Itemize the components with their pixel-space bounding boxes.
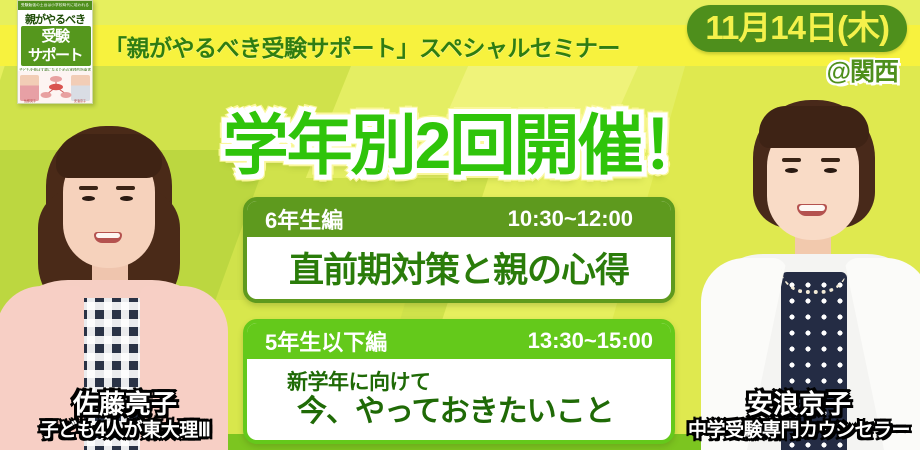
session-1-title: 直前期対策と親の心得 [289, 242, 629, 293]
book-author-name-right: 安浪京子 [70, 99, 90, 103]
seminar-banner: 「親がやるべき受験サポート」スペシャルセミナー 受験勉強の土台は小学校時代に培わ… [0, 0, 920, 450]
session-1-time: 10:30~12:00 [508, 206, 659, 232]
session-1-grade: 6年生編 [265, 203, 343, 235]
book-obi-text: 受験勉強の土台は小学校時代に培われる [18, 1, 92, 10]
date-badge: 11月14日(木) [687, 5, 907, 52]
session-card-2-header: 5年生以下編 13:30~15:00 [247, 323, 671, 359]
date-text: 11月14日(木) [705, 8, 889, 47]
presenter-left-name: 佐藤亮子 [14, 389, 236, 419]
presenter-left-role: 子ども4人が東大理Ⅲ [14, 419, 236, 442]
session-card-2: 5年生以下編 13:30~15:00 新学年に向けて 今、やっておきたいこと [243, 319, 675, 444]
presenter-right-role: 中学受験専門カウンセラー [684, 419, 914, 442]
session-2-title: 今、やっておきたいこと [297, 395, 614, 429]
session-2-subtitle: 新学年に向けて [287, 371, 431, 395]
presenter-right-name: 安浪京子 [684, 389, 914, 419]
book-author-photos: 佐藤亮子 安浪京子 [18, 71, 92, 103]
region-label: @関西 [827, 52, 898, 88]
mouth-shape [797, 204, 827, 216]
eye-right [120, 196, 133, 201]
session-card-1: 6年生編 10:30~12:00 直前期対策と親の心得 [243, 197, 675, 303]
presenter-caption-left: 佐藤亮子 子ども4人が東大理Ⅲ [14, 389, 236, 442]
book-author-photo-right [71, 75, 90, 101]
book-author-name-left: 佐藤亮子 [20, 99, 40, 103]
mouth-shape [94, 232, 122, 243]
eye-left [82, 196, 95, 201]
main-headline: 学年別2回開催！ [0, 92, 920, 188]
seminar-title: 「親がやるべき受験サポート」スペシャルセミナー [104, 27, 664, 65]
session-card-1-header: 6年生編 10:30~12:00 [247, 201, 671, 237]
book-title-line2: 受験サポート [18, 27, 92, 65]
presenter-caption-right: 安浪京子 中学受験専門カウンセラー [684, 389, 914, 442]
book-author-photo-left [20, 75, 39, 101]
book-cover-thumbnail: 受験勉強の土台は小学校時代に培われる 親がやるべき 受験サポート 子どもを伸ばす… [17, 0, 93, 104]
session-card-2-body: 新学年に向けて 今、やっておきたいこと [247, 359, 671, 440]
session-2-time: 13:30~15:00 [528, 328, 659, 354]
session-card-1-body: 直前期対策と親の心得 [247, 237, 671, 299]
session-2-grade: 5年生以下編 [265, 325, 387, 357]
book-title-line1: 親がやるべき [18, 11, 92, 27]
book-diagram-icon [40, 75, 72, 99]
